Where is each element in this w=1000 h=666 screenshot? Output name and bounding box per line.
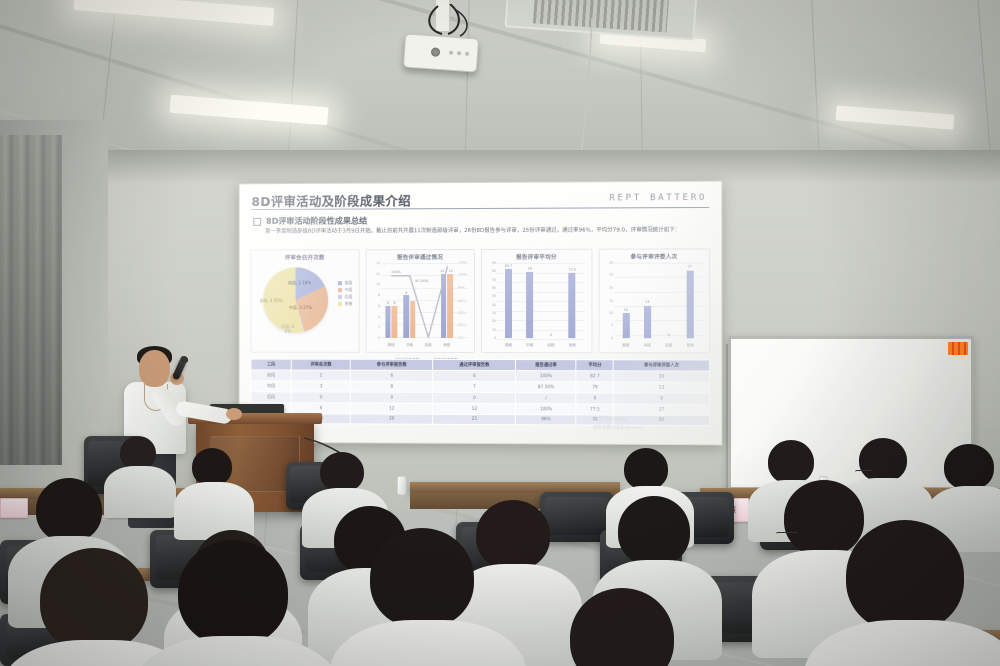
cell-r1c1: 3 xyxy=(291,381,350,392)
chart3-title: 报告评审平均分 xyxy=(486,253,587,261)
cell-r0c2: 6 xyxy=(351,371,433,382)
person-head xyxy=(784,480,864,556)
person-head xyxy=(476,500,550,570)
person-head xyxy=(120,436,156,470)
presenter-hand-gesture xyxy=(226,408,242,420)
cell-r3c4: 100% xyxy=(516,404,576,415)
eyeglasses-icon xyxy=(776,532,798,536)
bar-label-4-1: 13 xyxy=(645,300,649,304)
bar-group-3-middle: 79 xyxy=(519,263,540,338)
bar-group-4-system: 27 xyxy=(679,263,700,339)
cell-r4c4: 96% xyxy=(516,415,576,425)
wall-ceiling-shadow xyxy=(0,150,1000,184)
pie-label-system: 系统, 6 55% xyxy=(259,298,283,303)
bar-label-3-0: 82.7 xyxy=(505,264,513,268)
chart-card-pass-rate: 报告评审通过情况 14 12 10 8 6 4 2 0 xyxy=(365,249,475,353)
cell-r1c6: 13 xyxy=(614,382,710,393)
bar-group-4-back: 0 xyxy=(658,263,679,339)
cell-r0c3: 6 xyxy=(433,371,516,382)
pie-legend-item-3: 系统 xyxy=(338,300,352,307)
th-4: 报告通过率 xyxy=(516,360,576,372)
cell-r1c0: 中段 xyxy=(251,381,292,392)
person-head xyxy=(859,438,907,482)
bar-group-4-middle: 13 xyxy=(637,263,658,339)
cell-r1c2: 8 xyxy=(351,382,433,393)
chart-card-avg-score: 报告评审平均分 9080 7060 5040 3020 100 xyxy=(481,249,592,354)
person-head xyxy=(618,496,690,566)
window-curtain xyxy=(0,135,62,465)
th-1: 评审会次数 xyxy=(291,359,350,370)
line-label-1: 87.50% xyxy=(415,279,428,283)
cell-r4c2: 26 xyxy=(351,414,433,424)
chart-card-judges: 参与评审评委人次 3025 2015 105 0 xyxy=(598,248,710,353)
th-2: 参与评审报告数 xyxy=(351,359,433,371)
presenter-head xyxy=(139,350,170,387)
th-0: 工段 xyxy=(251,359,292,370)
chart3-y-axis: 9080 7060 5040 3020 100 xyxy=(486,263,497,338)
person-head xyxy=(320,452,364,492)
company-logo-text: REPT BATTERO xyxy=(609,193,707,204)
whiteboard-magnets xyxy=(948,342,968,355)
bar-group-3-front: 82.7 xyxy=(498,263,519,338)
bar-label-3-1: 79 xyxy=(528,267,532,271)
name-card-1 xyxy=(0,498,28,518)
chart2-passrate-line xyxy=(382,263,456,337)
chart4-title: 参与评审评委人次 xyxy=(603,252,705,260)
cell-r3c2: 12 xyxy=(351,403,433,414)
th-5: 平均分 xyxy=(576,360,613,372)
chart3-plot: 9080 7060 5040 3020 100 xyxy=(486,263,587,349)
cell-r1c5: 79 xyxy=(576,382,613,393)
person-head xyxy=(944,444,994,490)
bar-label-4-0: 10 xyxy=(624,308,628,312)
chart-card-pie: 评审会召开次数 前段, 2 18% 中段, 3 27% 后段, 0 0% 系统,… xyxy=(250,249,359,352)
bar-group-4-front: 10 xyxy=(615,263,636,339)
pie-legend-item-2: 后段 xyxy=(338,293,352,300)
chart2-x-labels: 前段中段 后段系统 xyxy=(382,343,456,348)
pie-legend: 前段 中段 后段 系统 xyxy=(338,279,352,307)
person-head xyxy=(846,520,964,632)
bar-label-3-3: 77.5 xyxy=(568,268,576,272)
chart3-x-labels: 前段中段 后段系统 xyxy=(498,343,583,348)
person-head xyxy=(36,478,102,542)
cell-r2c5: 0 xyxy=(576,393,613,404)
person-head xyxy=(192,448,232,486)
square-bullet-icon xyxy=(253,217,261,225)
charts-row: 评审会召开次数 前段, 2 18% 中段, 3 27% 后段, 0 0% 系统,… xyxy=(250,248,710,353)
pie-legend-item-0: 前段 xyxy=(338,279,352,286)
bar-label-4-2: 0 xyxy=(668,333,670,337)
person-head xyxy=(40,548,148,652)
chart2-plot: 14 12 10 8 6 4 2 0 120% 100% 80% xyxy=(370,263,470,349)
chart2-title: 报告评审通过情况 xyxy=(370,253,470,261)
cell-r3c3: 12 xyxy=(433,404,516,415)
bar-label-3-2: 0 xyxy=(550,333,552,337)
slide-section-heading: 8D评审活动阶段性成果总结 xyxy=(253,214,367,226)
person-shoulders xyxy=(104,466,176,518)
cell-r0c1: 2 xyxy=(291,370,350,381)
person-head xyxy=(178,540,288,646)
line-label-0: 100% xyxy=(391,270,401,274)
eyeglasses-icon xyxy=(855,470,873,474)
projector-cables xyxy=(398,4,488,64)
section-heading-text: 8D评审活动阶段性成果总结 xyxy=(266,215,367,225)
whiteboard xyxy=(728,336,974,490)
cell-r2c3: 0 xyxy=(433,393,516,404)
th-6: 参与评审评委人次 xyxy=(614,360,710,372)
cell-r3c6: 27 xyxy=(614,404,710,415)
chart2-y-axis: 14 12 10 8 6 4 2 0 xyxy=(370,263,381,338)
person-head xyxy=(370,528,474,628)
pie-label-front: 前段, 2 18% xyxy=(288,280,312,285)
chart1-title: 评审会召开次数 xyxy=(255,253,354,261)
chart1-plot: 前段, 2 18% 中段, 3 27% 后段, 0 0% 系统, 6 55% 前… xyxy=(255,263,354,349)
person-head xyxy=(624,448,668,490)
pie-label-middle: 中段, 3 27% xyxy=(289,305,313,310)
chart4-x-labels: 前段中段 后段系统 xyxy=(615,343,701,348)
cell-r0c5: 82.7 xyxy=(576,371,613,382)
chart4-y-axis: 3025 2015 105 0 xyxy=(603,263,614,338)
water-bottle-1 xyxy=(397,476,406,495)
chart4-bars: 10 13 0 27 xyxy=(615,263,701,339)
cell-r3c5: 77.5 xyxy=(576,404,613,415)
slide-title: 8D评审活动及阶段成果介绍 xyxy=(251,190,411,210)
bar-group-3-back: 0 xyxy=(540,263,561,338)
pie-legend-item-1: 中段 xyxy=(338,286,352,293)
projection-screen: 8D评审活动及阶段成果介绍 REPT BATTERO 8D评审活动阶段性成果总结… xyxy=(239,181,723,446)
presentation-slide: 8D评审活动及阶段成果介绍 REPT BATTERO 8D评审活动阶段性成果总结… xyxy=(240,182,722,445)
cell-r1c3: 7 xyxy=(433,382,516,393)
conference-room-scene: 8D评审活动及阶段成果介绍 REPT BATTERO 8D评审活动阶段性成果总结… xyxy=(0,0,1000,666)
cell-r4c3: 25 xyxy=(433,415,516,425)
cell-r0c4: 100% xyxy=(516,371,576,382)
pie-label-back: 后段, 0 0% xyxy=(279,324,297,334)
cell-r0c0: 前段 xyxy=(251,370,292,381)
person-head xyxy=(768,440,814,484)
cell-r1c4: 87.50% xyxy=(516,382,576,393)
cell-r4c6: 50 xyxy=(614,415,710,426)
cell-r2c6: 0 xyxy=(614,393,710,404)
bar-label-4-3: 27 xyxy=(688,265,692,269)
slide-body-text: 第一季度制造部级8D评审活动于3月9日开始，截止目前共开展11次制造部级评审，2… xyxy=(265,226,707,236)
chart4-plot: 3025 2015 105 0 10 xyxy=(603,263,705,350)
cell-r0c6: 10 xyxy=(614,371,710,382)
th-3: 通过评审报告数 xyxy=(433,359,516,371)
cell-r2c1: 0 xyxy=(291,392,350,403)
cell-r2c2: 0 xyxy=(351,392,433,403)
cell-r2c4: / xyxy=(516,393,576,404)
bar-group-3-system: 77.5 xyxy=(562,263,583,338)
cell-r4c5: 79 xyxy=(576,415,613,425)
chart3-bars: 82.7 79 0 7 xyxy=(498,263,583,338)
cell-r2c0: 后段 xyxy=(251,392,292,403)
